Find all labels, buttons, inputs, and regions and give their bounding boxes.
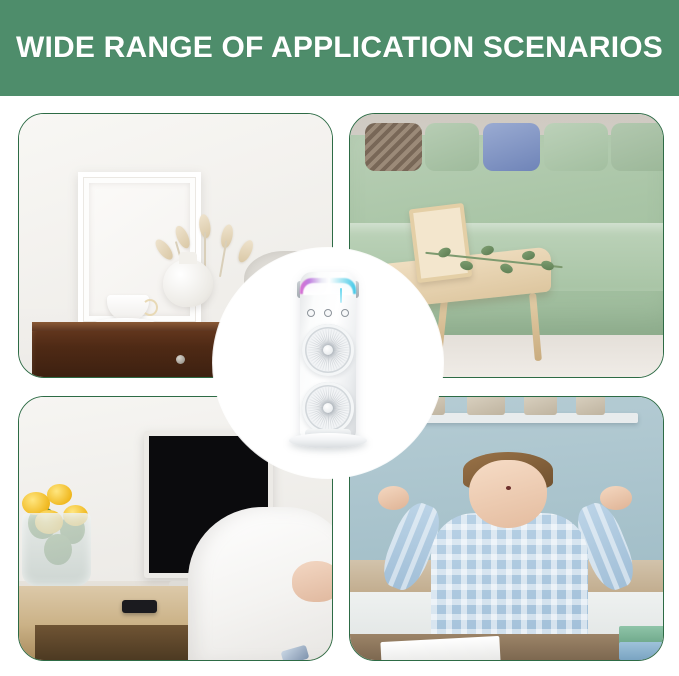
face	[292, 561, 332, 602]
stacked-books	[619, 642, 663, 660]
open-mouth	[506, 486, 511, 490]
photo-frame	[408, 203, 472, 283]
pillow-sage	[611, 123, 663, 171]
page-title: WIDE RANGE OF APPLICATION SCENARIOS	[16, 31, 663, 65]
glass-vase	[22, 513, 91, 587]
woman	[188, 507, 332, 660]
power-button[interactable]	[307, 309, 315, 317]
control-button-row[interactable]	[300, 308, 356, 318]
jar	[576, 397, 605, 415]
rgb-light-ring	[300, 278, 356, 294]
fan-hub	[323, 403, 333, 413]
product-inset-circle[interactable]	[213, 248, 443, 478]
pillow-patterned	[365, 123, 422, 171]
kitchen-shelf	[400, 413, 638, 424]
pillow-sage	[425, 123, 479, 171]
drawer-knob-icon	[176, 355, 185, 364]
pillow-sage	[544, 123, 608, 171]
portable-fan-product	[300, 260, 356, 448]
header-banner: WIDE RANGE OF APPLICATION SCENARIOS	[0, 0, 679, 96]
vase	[163, 259, 213, 307]
product-base	[289, 433, 367, 448]
led-indicator	[340, 288, 343, 303]
fan-hub	[323, 345, 333, 355]
speed-button[interactable]	[324, 309, 332, 317]
fan-grille-bottom	[302, 382, 354, 434]
yellow-rose	[47, 484, 72, 505]
jar	[524, 397, 557, 415]
smartphone	[281, 645, 310, 660]
phone-on-desk	[122, 600, 156, 613]
fan-grille-top	[302, 324, 354, 376]
jar	[467, 397, 505, 415]
mist-button[interactable]	[341, 309, 349, 317]
pillow-blue	[483, 123, 540, 171]
fist-right	[600, 486, 631, 510]
product-body	[300, 272, 356, 440]
